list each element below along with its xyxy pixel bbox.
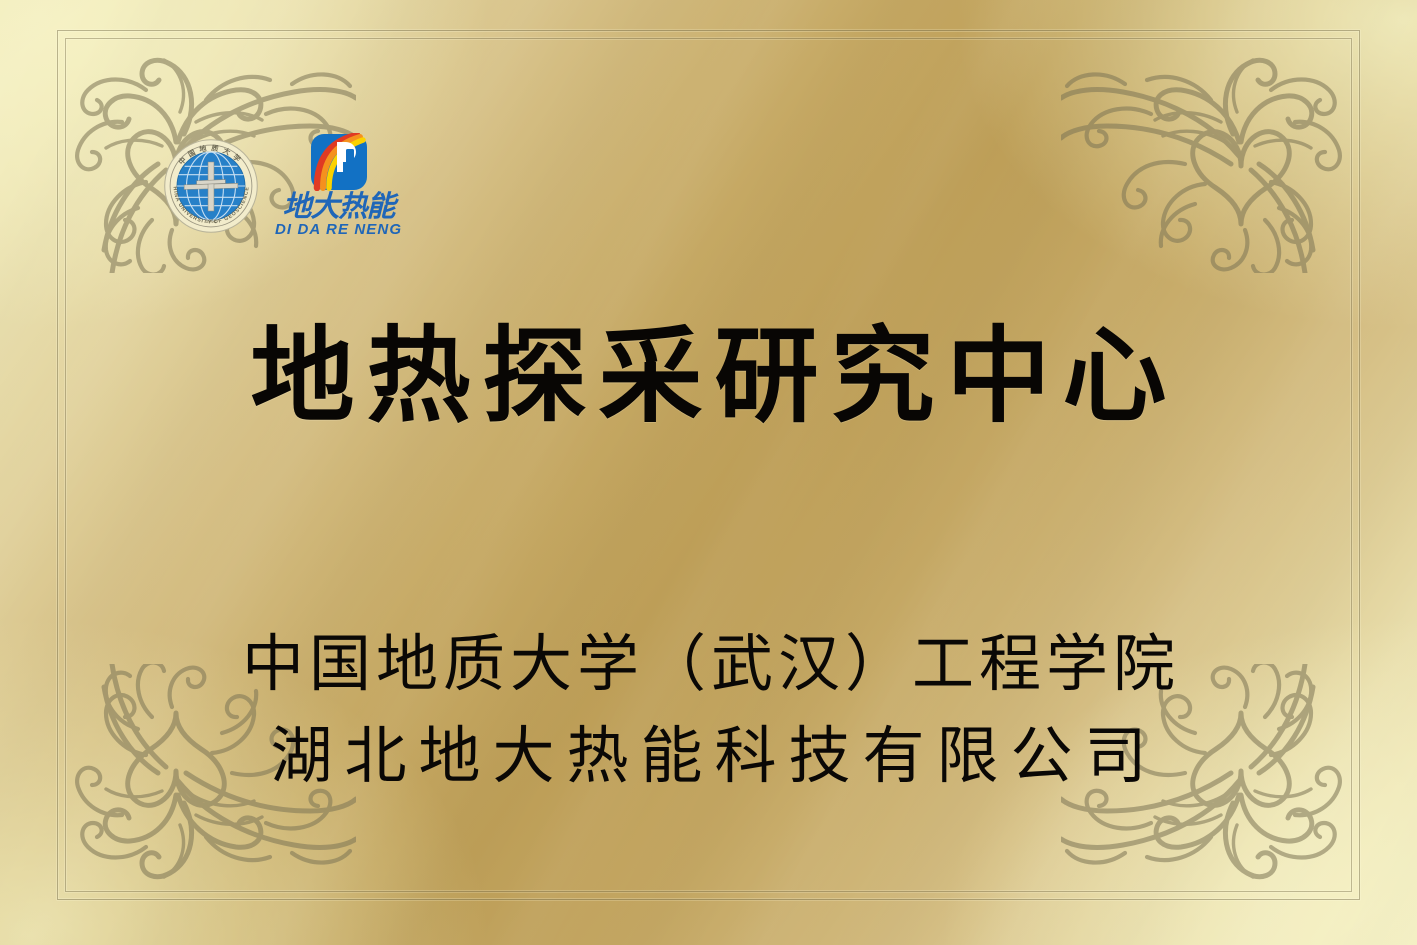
subtitle-line-1: 中国地质大学（武汉）工程学院 [0,618,1417,710]
plaque-title: 地热探采研究中心 [0,320,1417,432]
didareneng-logo: 地大热能 DI DA RE NENG [275,133,402,240]
subtitle-line-2: 湖北地大热能科技有限公司 [0,710,1417,802]
logo-row: 中国地质大学 CHINA UNIVERSITY OF GEOSCIENCES 1… [163,133,402,240]
didareneng-chinese-text: 地大热能 [283,192,395,221]
didareneng-pinyin-text: DI DA RE NENG [275,221,402,240]
plaque-subtitles: 中国地质大学（武汉）工程学院 湖北地大热能科技有限公司 [0,618,1417,802]
ornament-top-right [1061,18,1391,273]
award-plaque: 中国地质大学 CHINA UNIVERSITY OF GEOSCIENCES 1… [0,0,1417,945]
didareneng-mark-icon [310,133,368,191]
cug-year-text: 1952 [206,219,217,225]
china-university-of-geosciences-logo: 中国地质大学 CHINA UNIVERSITY OF GEOSCIENCES 1… [163,138,259,234]
